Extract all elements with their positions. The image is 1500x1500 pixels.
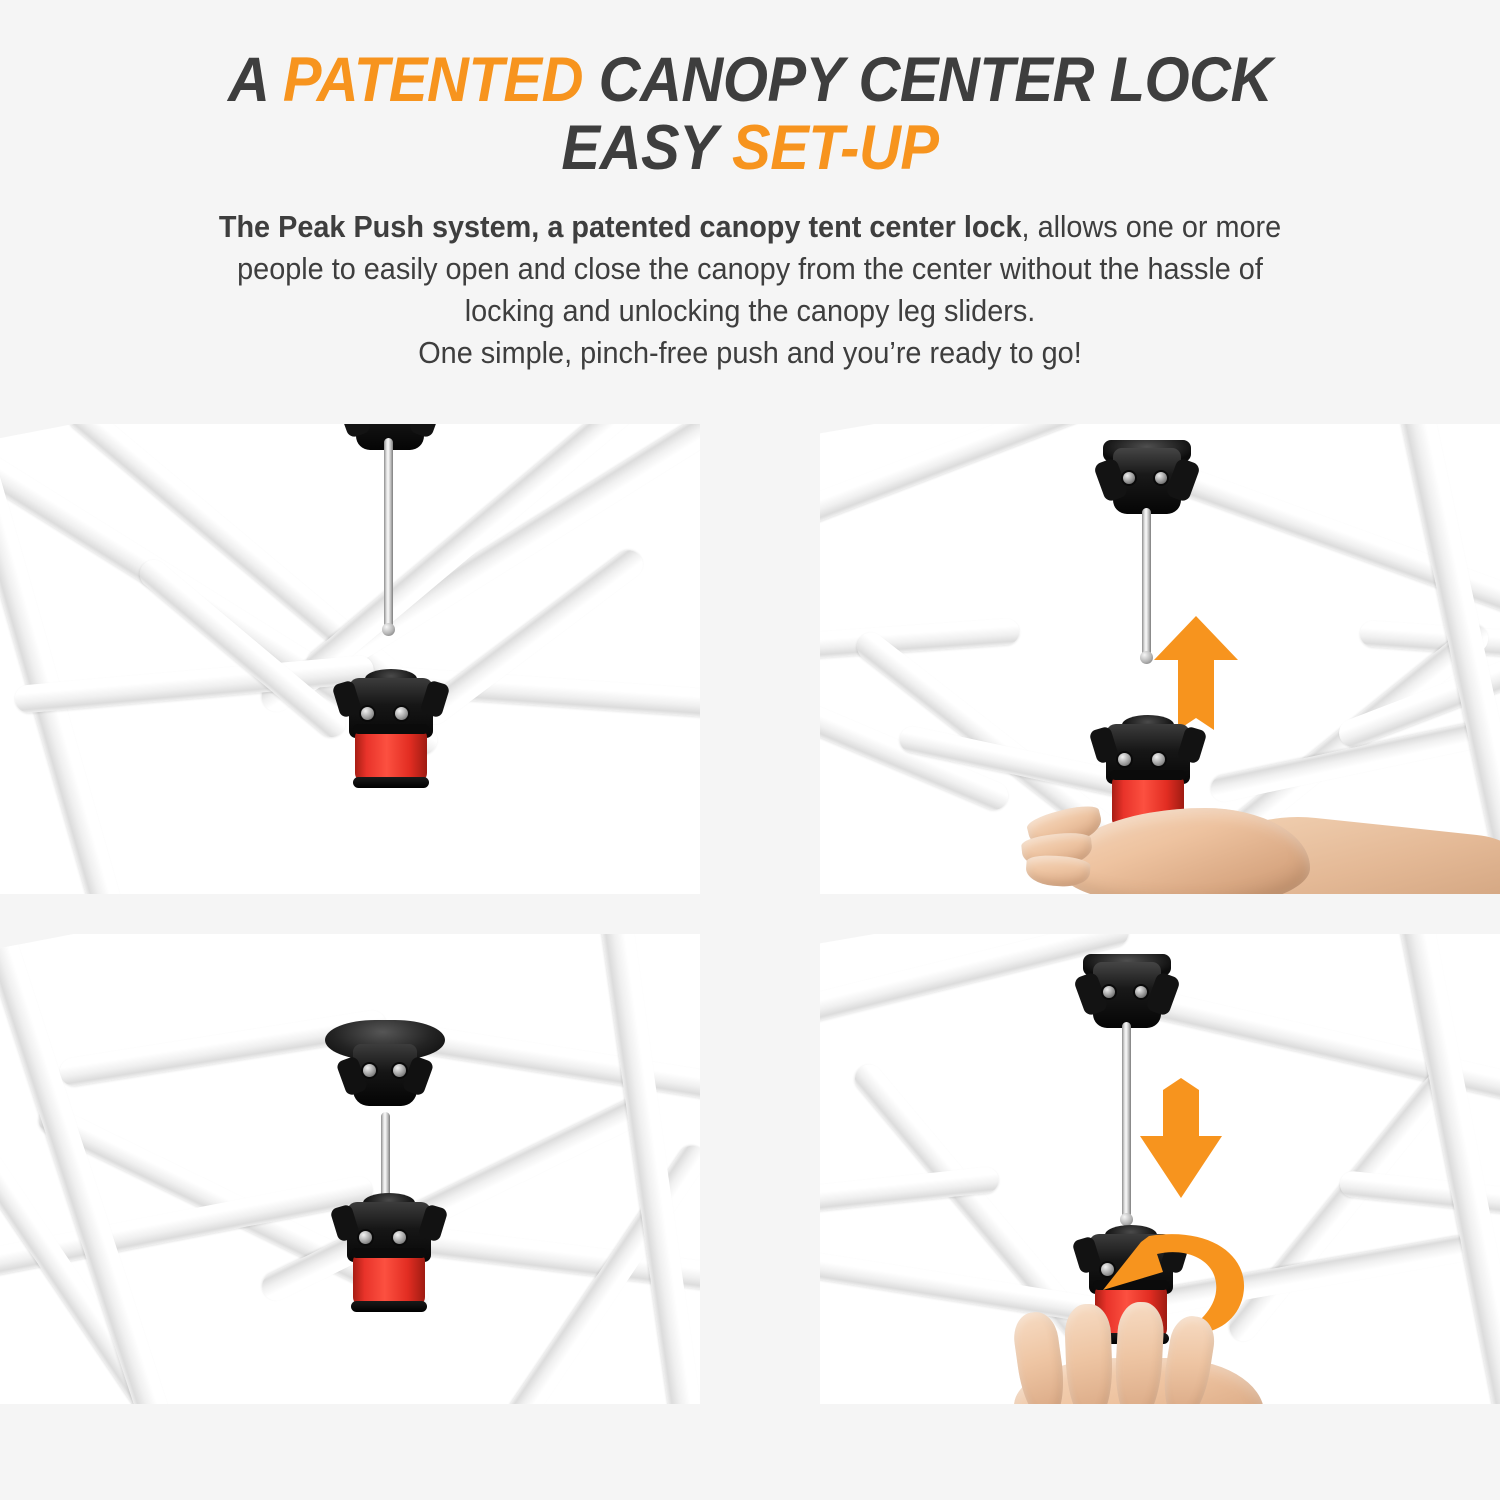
description-line-4: One simple, pinch-free push and you’re r… [53,332,1448,374]
panel-3-stage [0,934,700,1404]
description-line-3: locking and unlocking the canopy leg sli… [53,290,1448,332]
hub-screw [361,707,374,720]
headline-segment-accent: SET-UP [732,113,939,183]
panel-4-stage [820,934,1500,1404]
description-line-1: The Peak Push system, a patented canopy … [53,206,1448,248]
headline-segment: CANOPY CENTER LOCK [583,45,1272,115]
fitting-screw [363,1064,376,1077]
center-lock-hub [335,678,447,796]
push-rod [1142,508,1151,656]
fitting-screw [1123,472,1135,484]
panel-1-frame-closed [0,424,700,894]
peak-disc-fitting [325,1020,445,1116]
red-lock-collar [355,730,427,782]
finger [1025,854,1091,888]
frame-tube [820,618,1020,662]
panel-1-stage [0,424,700,894]
panel-3-locked [0,934,700,1404]
hub-screw [1152,753,1165,766]
fitting-screw [1155,472,1167,484]
headline-segment-accent: PATENTED [283,45,583,115]
push-rod-tip [382,623,395,636]
hub-screw [1118,753,1131,766]
infographic-page: A PATENTED CANOPY CENTER LOCK EASY SET-U… [0,0,1500,1500]
headline-segment: EASY [561,113,732,183]
description-lead: The Peak Push system, a patented canopy … [219,209,1022,244]
headline-line-2: EASY SET-UP [60,114,1440,182]
fitting-stem [353,1044,417,1106]
photo-grid [0,424,1500,1444]
description-lead-tail: , allows one or more [1022,209,1282,244]
finger [1113,1301,1165,1404]
frame-tube [1393,934,1500,1404]
panel-4-twist-release [820,934,1500,1404]
arrow-up-icon [1152,614,1240,732]
red-lock-collar [353,1254,425,1306]
fitting-screw [393,1064,406,1077]
fitting-screw [1103,986,1115,998]
description-line-2: people to easily open and close the cano… [53,248,1448,290]
description-paragraph: The Peak Push system, a patented canopy … [53,206,1448,374]
arrow-down-icon [1138,1076,1224,1200]
fitting-screw [1135,986,1147,998]
push-rod [1122,1022,1131,1218]
headline-line-1: A PATENTED CANOPY CENTER LOCK [60,46,1440,114]
hub-screw [393,1231,406,1244]
hub-screw [395,707,408,720]
panel-2-stage [820,424,1500,894]
push-rod [384,438,393,628]
hub-screw [359,1231,372,1244]
finger [1064,1303,1114,1404]
center-lock-hub [333,1202,445,1320]
panel-2-push-up [820,424,1500,894]
headline-segment: A [228,45,283,115]
header: A PATENTED CANOPY CENTER LOCK EASY SET-U… [0,46,1500,374]
